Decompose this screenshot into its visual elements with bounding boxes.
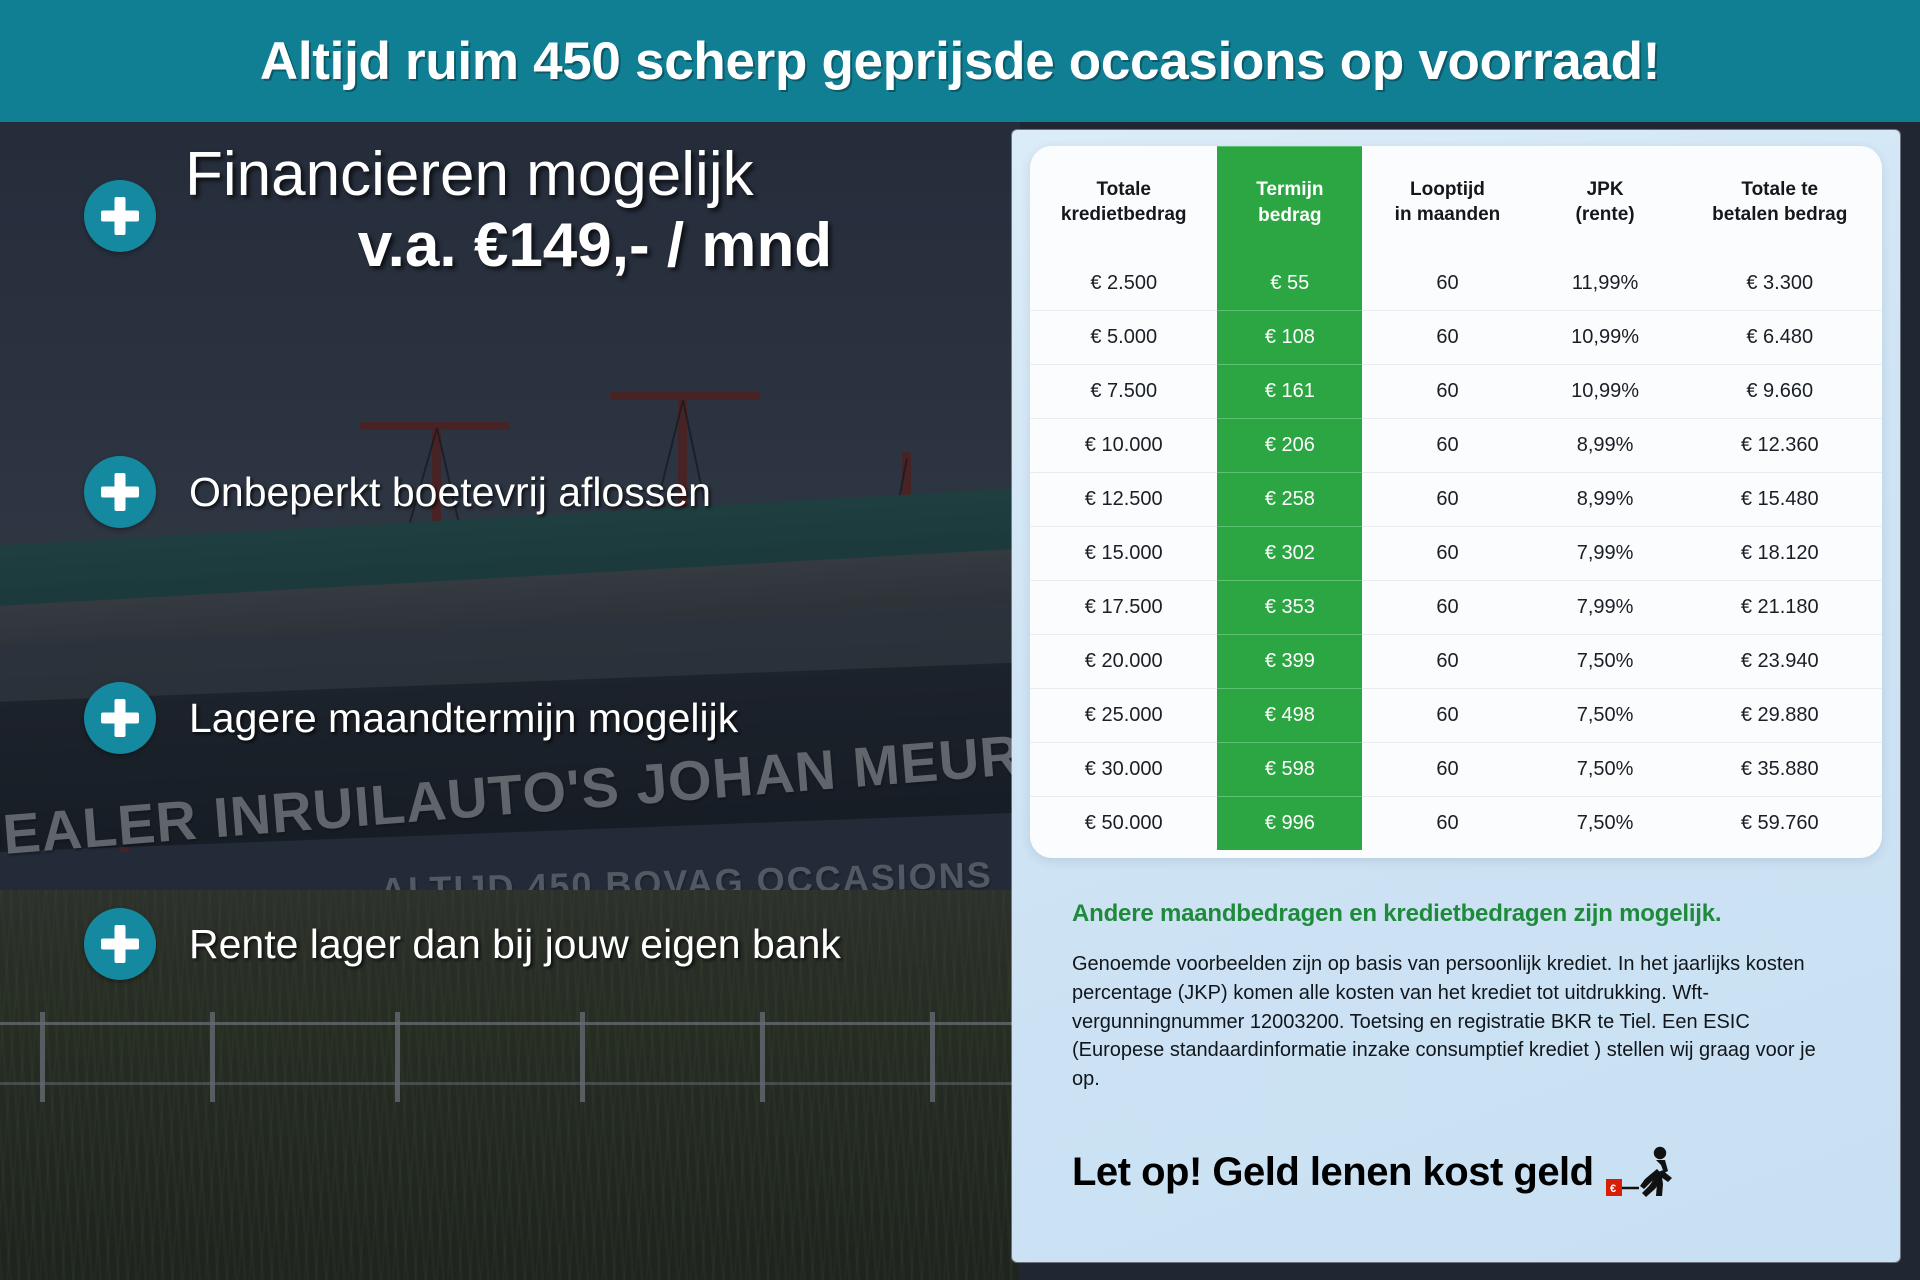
cell-looptijd: 60 [1362,689,1532,743]
plus-icon [84,908,156,980]
hero-headline-line1: Financieren mogelijk [185,142,1005,207]
promo-banner: Altijd ruim 450 scherp geprijsde occasio… [0,0,1920,1280]
cell-jpk: 7,50% [1533,635,1678,689]
header-line2: (rente) [1537,202,1674,228]
warning-text: Let op! Geld lenen kost geld [1072,1150,1594,1195]
cell-termijnbedrag: € 206 [1217,419,1362,473]
cell-jpk: 7,50% [1533,797,1678,851]
hero-headline-line2: v.a. €149,- / mnd [185,207,1005,285]
column-header-kredietbedrag: Totale kredietbedrag [1030,147,1217,257]
cell-totaal: € 15.480 [1677,473,1882,527]
column-header-totaal: Totale te betalen bedrag [1677,147,1882,257]
table-row: € 5.000€ 1086010,99%€ 6.480 [1030,311,1882,365]
cell-totaal: € 18.120 [1677,527,1882,581]
cell-jpk: 7,99% [1533,527,1678,581]
disclaimer-body: Genoemde voorbeelden zijn op basis van p… [1072,950,1832,1094]
cell-jpk: 7,99% [1533,581,1678,635]
cell-kredietbedrag: € 7.500 [1030,365,1217,419]
cell-totaal: € 21.180 [1677,581,1882,635]
header-line2: kredietbedrag [1034,202,1213,228]
cell-totaal: € 9.660 [1677,365,1882,419]
cell-kredietbedrag: € 30.000 [1030,743,1217,797]
cell-totaal: € 12.360 [1677,419,1882,473]
cell-looptijd: 60 [1362,581,1532,635]
geld-lenen-kost-geld-logo: € [1606,1145,1678,1199]
cell-jpk: 8,99% [1533,473,1678,527]
cell-termijnbedrag: € 108 [1217,311,1362,365]
plus-icon [84,180,156,252]
cell-termijnbedrag: € 996 [1217,797,1362,851]
cell-kredietbedrag: € 12.500 [1030,473,1217,527]
cell-jpk: 10,99% [1533,311,1678,365]
cell-kredietbedrag: € 50.000 [1030,797,1217,851]
cell-termijnbedrag: € 161 [1217,365,1362,419]
cell-looptijd: 60 [1362,635,1532,689]
cell-termijnbedrag: € 258 [1217,473,1362,527]
table-header-row: Totale kredietbedrag Termijn bedrag Loop… [1030,147,1882,257]
cell-looptijd: 60 [1362,473,1532,527]
header-line2: betalen bedrag [1681,202,1878,228]
table-row: € 15.000€ 302607,99%€ 18.120 [1030,527,1882,581]
cell-kredietbedrag: € 2.500 [1030,257,1217,311]
cell-termijnbedrag: € 498 [1217,689,1362,743]
cell-looptijd: 60 [1362,797,1532,851]
table-row: € 7.500€ 1616010,99%€ 9.660 [1030,365,1882,419]
benefit-item-financieren [84,180,156,252]
cell-looptijd: 60 [1362,743,1532,797]
cell-jpk: 7,50% [1533,689,1678,743]
cell-jpk: 8,99% [1533,419,1678,473]
cell-looptijd: 60 [1362,257,1532,311]
rates-table: Totale kredietbedrag Termijn bedrag Loop… [1030,146,1882,850]
benefits-panel: Financieren mogelijk v.a. €149,- / mnd O… [0,122,1020,1280]
table-row: € 17.500€ 353607,99%€ 21.180 [1030,581,1882,635]
plus-icon [84,456,156,528]
plus-icon [84,682,156,754]
cell-kredietbedrag: € 10.000 [1030,419,1217,473]
cell-totaal: € 3.300 [1677,257,1882,311]
disclaimer-block: Andere maandbedragen en kredietbedragen … [1072,900,1832,1094]
rates-table-body: € 2.500€ 556011,99%€ 3.300 € 5.000€ 1086… [1030,257,1882,851]
header-line2: in maanden [1366,202,1528,228]
cell-kredietbedrag: € 20.000 [1030,635,1217,689]
cell-kredietbedrag: € 17.500 [1030,581,1217,635]
table-row: € 20.000€ 399607,50%€ 23.940 [1030,635,1882,689]
cell-totaal: € 35.880 [1677,743,1882,797]
table-row: € 30.000€ 598607,50%€ 35.880 [1030,743,1882,797]
benefit-item-maandtermijn: Lagere maandtermijn mogelijk [84,682,738,754]
table-row: € 10.000€ 206608,99%€ 12.360 [1030,419,1882,473]
cell-kredietbedrag: € 5.000 [1030,311,1217,365]
header-line1: Totale te [1681,177,1878,203]
cell-kredietbedrag: € 15.000 [1030,527,1217,581]
rates-table-card: Totale kredietbedrag Termijn bedrag Loop… [1030,146,1882,858]
header-line1: Termijn [1221,177,1358,203]
cell-totaal: € 23.940 [1677,635,1882,689]
header-line1: Totale [1034,177,1213,203]
disclaimer-heading: Andere maandbedragen en kredietbedragen … [1072,900,1832,928]
cell-termijnbedrag: € 353 [1217,581,1362,635]
table-row: € 50.000€ 996607,50%€ 59.760 [1030,797,1882,851]
cell-termijnbedrag: € 55 [1217,257,1362,311]
header-line1: JPK [1537,177,1674,203]
column-header-looptijd: Looptijd in maanden [1362,147,1532,257]
svg-text:€: € [1610,1183,1616,1195]
table-row: € 2.500€ 556011,99%€ 3.300 [1030,257,1882,311]
cell-termijnbedrag: € 302 [1217,527,1362,581]
cell-termijnbedrag: € 399 [1217,635,1362,689]
benefit-label: Lagere maandtermijn mogelijk [189,695,738,742]
cell-totaal: € 29.880 [1677,689,1882,743]
benefit-item-aflossen: Onbeperkt boetevrij aflossen [84,456,711,528]
header-line1: Looptijd [1366,177,1528,203]
cell-kredietbedrag: € 25.000 [1030,689,1217,743]
finance-info-card: Totale kredietbedrag Termijn bedrag Loop… [1012,130,1900,1262]
table-row: € 12.500€ 258608,99%€ 15.480 [1030,473,1882,527]
cell-looptijd: 60 [1362,311,1532,365]
cell-termijnbedrag: € 598 [1217,743,1362,797]
cell-totaal: € 6.480 [1677,311,1882,365]
cell-looptijd: 60 [1362,365,1532,419]
top-banner-text: Altijd ruim 450 scherp geprijsde occasio… [260,31,1660,92]
warning-block: Let op! Geld lenen kost geld € [1072,1145,1862,1199]
column-header-termijnbedrag: Termijn bedrag [1217,147,1362,257]
cell-looptijd: 60 [1362,527,1532,581]
benefit-item-rente: Rente lager dan bij jouw eigen bank [84,908,841,980]
header-line2: bedrag [1221,203,1358,229]
hero-headline: Financieren mogelijk v.a. €149,- / mnd [185,142,1005,285]
cell-jpk: 10,99% [1533,365,1678,419]
benefit-label: Rente lager dan bij jouw eigen bank [189,921,841,968]
top-banner-bar: Altijd ruim 450 scherp geprijsde occasio… [0,0,1920,122]
cell-jpk: 11,99% [1533,257,1678,311]
cell-totaal: € 59.760 [1677,797,1882,851]
table-row: € 25.000€ 498607,50%€ 29.880 [1030,689,1882,743]
cell-looptijd: 60 [1362,419,1532,473]
benefit-label: Onbeperkt boetevrij aflossen [189,469,711,516]
column-header-jpk: JPK (rente) [1533,147,1678,257]
cell-jpk: 7,50% [1533,743,1678,797]
